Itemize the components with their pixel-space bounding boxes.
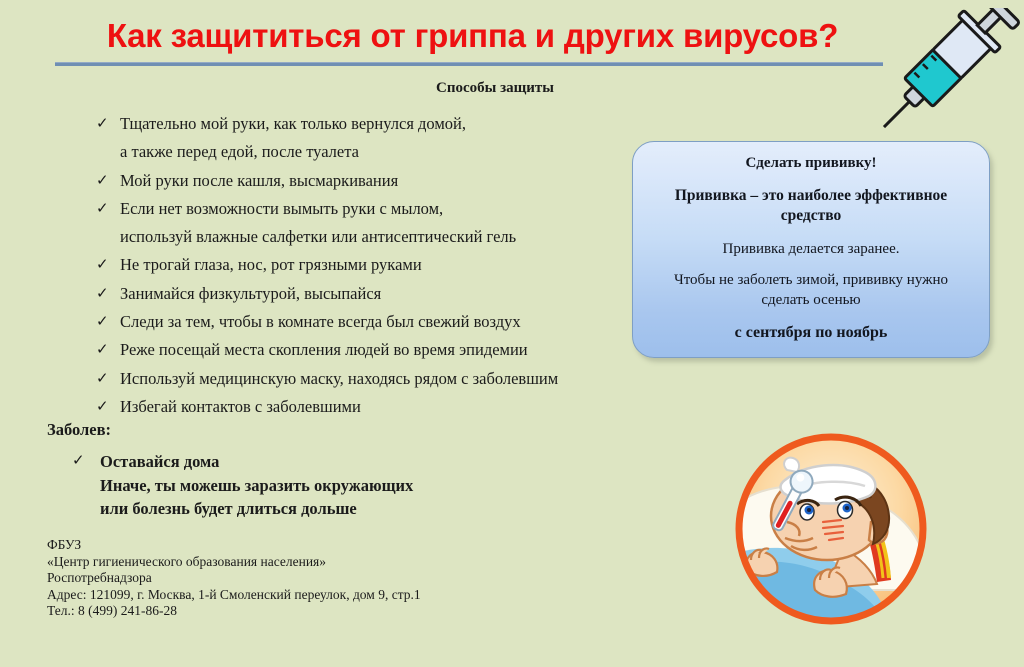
if-sick-line-1: Оставайся дома: [100, 452, 219, 471]
list-item-text: Избегай контактов с заболевшими: [120, 397, 361, 416]
callout-body-2-line1: Чтобы не заболеть зимой, прививку нужно: [651, 270, 971, 290]
if-sick-list: ✓ Оставайся дома Иначе, ты можешь зарази…: [72, 450, 492, 521]
poster-canvas: Как защититься от гриппа и других вирусо…: [0, 0, 1024, 667]
list-item-text-cont: а также перед едой, после туалета: [120, 138, 636, 166]
list-item: ✓ Занимайся физкультурой, высыпайся: [96, 280, 636, 308]
sick-boy-icon: [731, 430, 931, 628]
checkmark-icon: ✓: [96, 167, 109, 195]
callout-heading: Сделать прививку!: [651, 153, 971, 173]
list-item: ✓ Избегай контактов с заболевшими: [96, 393, 636, 421]
if-sick-line-3: или болезнь будет длиться дольше: [100, 497, 492, 521]
callout-body-2-line2: сделать осенью: [651, 290, 971, 310]
list-item: ✓ Используй медицинскую маску, находясь …: [96, 365, 636, 393]
list-item-text: Занимайся физкультурой, высыпайся: [120, 284, 381, 303]
if-sick-heading: Заболев:: [47, 420, 111, 440]
checkmark-icon: ✓: [96, 110, 109, 138]
prevention-tips-list: ✓ Тщательно мой руки, как только вернулс…: [96, 110, 636, 421]
checkmark-icon: ✓: [96, 393, 109, 421]
checkmark-icon: ✓: [96, 365, 109, 393]
footer-line-1: ФБУЗ: [47, 537, 421, 554]
footer-org-block: ФБУЗ «Центр гигиенического образования н…: [47, 537, 421, 620]
list-item: ✓ Мой руки после кашля, высмаркивания: [96, 167, 636, 195]
list-item-text: Не трогай глаза, нос, рот грязными рукам…: [120, 255, 422, 274]
if-sick-line-2: Иначе, ты можешь заразить окружающих: [100, 474, 492, 498]
syringe-icon: [848, 8, 1024, 140]
page-title: Как защититься от гриппа и других вирусо…: [0, 17, 945, 55]
callout-lead-line2: средство: [651, 206, 971, 226]
checkmark-icon: ✓: [96, 308, 109, 336]
list-item: ✓ Оставайся дома Иначе, ты можешь зарази…: [72, 450, 492, 521]
footer-line-5: Тел.: 8 (499) 241-86-28: [47, 603, 421, 620]
footer-line-2: «Центр гигиенического образования населе…: [47, 554, 421, 571]
callout-period: с сентября по ноябрь: [651, 323, 971, 343]
section-subtitle: Способы защиты: [330, 80, 660, 97]
list-item-text: Если нет возможности вымыть руки с мылом…: [120, 199, 443, 218]
checkmark-icon: ✓: [96, 280, 109, 308]
list-item-text-cont: используй влажные салфетки или антисепти…: [120, 223, 636, 251]
checkmark-icon: ✓: [72, 450, 85, 474]
vaccination-callout: Сделать прививку! Прививка – это наиболе…: [632, 141, 990, 358]
checkmark-icon: ✓: [96, 251, 109, 279]
checkmark-icon: ✓: [96, 336, 109, 364]
list-item-text: Мой руки после кашля, высмаркивания: [120, 171, 398, 190]
title-divider: [55, 62, 883, 66]
callout-lead-line1: Прививка – это наиболее эффективное: [651, 186, 971, 206]
footer-line-3: Роспотребнадзора: [47, 570, 421, 587]
callout-body-1: Прививка делается заранее.: [651, 239, 971, 259]
checkmark-icon: ✓: [96, 195, 109, 223]
list-item: ✓ Реже посещай места скопления людей во …: [96, 336, 636, 364]
footer-line-4: Адрес: 121099, г. Москва, 1-й Смоленский…: [47, 587, 421, 604]
list-item: ✓ Следи за тем, чтобы в комнате всегда б…: [96, 308, 636, 336]
list-item: ✓ Не трогай глаза, нос, рот грязными рук…: [96, 251, 636, 279]
list-item-text: Тщательно мой руки, как только вернулся …: [120, 114, 466, 133]
list-item-text: Используй медицинскую маску, находясь ря…: [120, 369, 558, 388]
list-item-text: Следи за тем, чтобы в комнате всегда был…: [120, 312, 521, 331]
list-item: ✓ Если нет возможности вымыть руки с мыл…: [96, 195, 636, 252]
list-item-text: Реже посещай места скопления людей во вр…: [120, 340, 528, 359]
list-item: ✓ Тщательно мой руки, как только вернулс…: [96, 110, 636, 167]
